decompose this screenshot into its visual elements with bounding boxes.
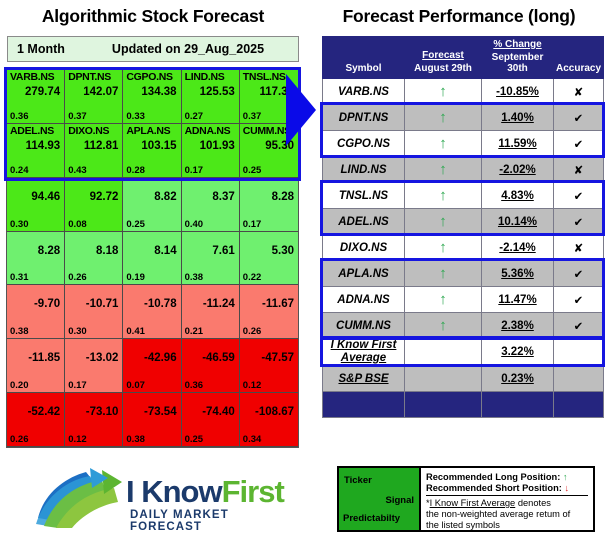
table-row: ADNA.NS↑11.47%✔ — [323, 287, 604, 313]
heatmap-cell-value: 125.53 — [200, 86, 235, 98]
footer-cell — [482, 392, 554, 418]
heatmap-cell-value: 134.38 — [141, 86, 176, 98]
heatmap-cell: -42.960.07 — [123, 339, 181, 393]
row-symbol: VARB.NS — [323, 79, 405, 105]
heatmap-cell-value: 114.93 — [26, 140, 61, 152]
heatmap-cell-predictability: 0.19 — [126, 272, 145, 283]
table-row: DIXO.NS↑-2.14%✘ — [323, 235, 604, 261]
benchmark-change: 0.23% — [482, 366, 554, 392]
heatmap-cell: CGPO.NS134.380.33 — [123, 70, 181, 124]
row-symbol: APLA.NS — [323, 261, 405, 287]
heatmap-cell-value: -10.78 — [144, 298, 177, 310]
legend-cell-sample: Ticker Signal Predictabilty — [339, 468, 421, 530]
heatmap-cell-value: 101.93 — [200, 140, 235, 152]
benchmark-signal — [405, 366, 482, 392]
algorithmic-forecast-panel: Algorithmic Stock Forecast 1 Month Updat… — [0, 0, 306, 545]
heatmap-cell-ticker: APLA.NS — [126, 125, 170, 137]
heatmap-cell-predictability: 0.41 — [126, 326, 145, 337]
heatmap-cell-value: 5.30 — [272, 245, 294, 257]
heatmap-cell-predictability: 0.33 — [126, 111, 145, 122]
heatmap-cell-ticker: ADEL.NS — [10, 125, 54, 137]
forecast-horizon-bar: 1 Month Updated on 29_Aug_2025 — [7, 36, 299, 62]
heatmap-cell-predictability: 0.25 — [185, 434, 204, 445]
heatmap-cell: 8.820.25 — [123, 178, 181, 232]
row-symbol: LIND.NS — [323, 157, 405, 183]
horizon-label: 1 Month — [8, 42, 96, 56]
row-signal-arrow-icon: ↑ — [405, 313, 482, 339]
table-row: CGPO.NS↑11.59%✔ — [323, 131, 604, 157]
legend-note-line3: the listed symbols — [426, 520, 588, 531]
heatmap-cell-predictability: 0.26 — [68, 272, 87, 283]
row-change: 2.38% — [482, 313, 554, 339]
heatmap-cell-value: -46.59 — [202, 352, 235, 364]
heatmap-cell-predictability: 0.26 — [10, 434, 29, 445]
page-title: Algorithmic Stock Forecast — [0, 6, 306, 27]
heatmap-cell: -11.850.20 — [7, 339, 65, 393]
heatmap-cell: 94.460.30 — [7, 178, 65, 232]
legend-box: Ticker Signal Predictabilty Recommended … — [337, 466, 595, 532]
table-row: DPNT.NS↑1.40%✔ — [323, 105, 604, 131]
heatmap-cell: -11.670.26 — [240, 285, 298, 339]
logo-word-iknow: I Know — [126, 474, 222, 509]
average-label: I Know FirstAverage — [323, 339, 405, 366]
heatmap-cell: -9.700.38 — [7, 285, 65, 339]
heatmap-cell-value: -11.85 — [28, 352, 60, 364]
heatmap-cell-predictability: 0.17 — [243, 219, 262, 230]
row-change: 11.47% — [482, 287, 554, 313]
heatmap-cell: DIXO.NS112.810.43 — [65, 124, 123, 178]
col-symbol: Symbol — [323, 37, 405, 79]
heatmap-cell-predictability: 0.21 — [185, 326, 204, 337]
iknowfirst-logo: I KnowFirst DAILY MARKET FORECAST — [34, 468, 284, 534]
heatmap-cell: 8.180.26 — [65, 232, 123, 286]
table-footer-band — [323, 392, 604, 418]
heatmap-cell: ADNA.NS101.930.17 — [182, 124, 240, 178]
heatmap-cell-predictability: 0.25 — [243, 165, 262, 176]
heatmap-cell-predictability: 0.43 — [68, 165, 87, 176]
row-change: -2.02% — [482, 157, 554, 183]
footer-cell — [323, 392, 405, 418]
heatmap-cell: 8.140.19 — [123, 232, 181, 286]
heatmap-cell-value: -13.02 — [86, 352, 119, 364]
heatmap-cell-value: 8.18 — [96, 245, 118, 257]
heatmap-cell: 5.300.22 — [240, 232, 298, 286]
row-change: 4.83% — [482, 183, 554, 209]
row-accuracy-icon: ✔ — [554, 287, 604, 313]
table-row: LIND.NS↑-2.02%✘ — [323, 157, 604, 183]
row-signal-arrow-icon: ↑ — [405, 209, 482, 235]
forecast-heatmap: VARB.NS279.740.36DPNT.NS142.070.37CGPO.N… — [6, 69, 299, 448]
heatmap-cell-value: -73.10 — [86, 406, 119, 418]
row-symbol: DIXO.NS — [323, 235, 405, 261]
forecast-performance-panel: Forecast Performance (long) Symbol Forec… — [306, 0, 612, 545]
heatmap-cell-value: -11.24 — [203, 298, 235, 310]
heatmap-cell-value: 112.81 — [84, 140, 119, 152]
row-symbol: CUMM.NS — [323, 313, 405, 339]
row-signal-arrow-icon: ↑ — [405, 235, 482, 261]
row-change: 5.36% — [482, 261, 554, 287]
heatmap-cell-predictability: 0.37 — [68, 111, 87, 122]
heatmap-cell-value: -73.54 — [144, 406, 177, 418]
heatmap-cell-predictability: 0.27 — [185, 111, 204, 122]
heatmap-cell-value: -74.40 — [202, 406, 235, 418]
row-signal-arrow-icon: ↑ — [405, 183, 482, 209]
heatmap-cell-value: 7.61 — [212, 245, 234, 257]
heatmap-cell-predictability: 0.37 — [243, 111, 262, 122]
col-change: % Change September 30th — [482, 37, 554, 79]
heatmap-cell-predictability: 0.12 — [243, 380, 262, 391]
row-accuracy-icon: ✔ — [554, 131, 604, 157]
heatmap-cell: ADEL.NS114.930.24 — [7, 124, 65, 178]
average-signal — [405, 339, 482, 366]
heatmap-cell-predictability: 0.36 — [185, 380, 204, 391]
row-change: -2.14% — [482, 235, 554, 261]
footer-cell — [405, 392, 482, 418]
heatmap-cell: VARB.NS279.740.36 — [7, 70, 65, 124]
row-symbol: ADEL.NS — [323, 209, 405, 235]
heatmap-cell-value: 8.37 — [212, 191, 234, 203]
heatmap-cell-ticker: VARB.NS — [10, 71, 54, 83]
heatmap-cell: 92.720.08 — [65, 178, 123, 232]
row-signal-arrow-icon: ↑ — [405, 105, 482, 131]
legend-down-arrow-icon: ↓ — [564, 483, 569, 493]
heatmap-cell-predictability: 0.24 — [10, 165, 29, 176]
heatmap-cell-value: 8.28 — [38, 245, 60, 257]
heatmap-cell-value: -52.42 — [28, 406, 61, 418]
heatmap-cell: 8.370.40 — [182, 178, 240, 232]
average-change: 3.22% — [482, 339, 554, 366]
row-change: 1.40% — [482, 105, 554, 131]
heatmap-cell: -11.240.21 — [182, 285, 240, 339]
heatmap-cell-predictability: 0.17 — [185, 165, 204, 176]
row-signal-arrow-icon: ↑ — [405, 157, 482, 183]
heatmap-cell: -10.780.41 — [123, 285, 181, 339]
table-row: ADEL.NS↑10.14%✔ — [323, 209, 604, 235]
heatmap-cell-ticker: TNSL.NS — [243, 71, 286, 83]
heatmap-cell-predictability: 0.38 — [126, 434, 145, 445]
benchmark-label: S&P BSE — [323, 366, 405, 392]
row-accuracy-icon: ✔ — [554, 261, 604, 287]
footer-cell — [554, 392, 604, 418]
table-header-row: Symbol Forecast August 29th % Change Sep… — [323, 37, 604, 79]
heatmap-cell: -52.420.26 — [7, 393, 65, 447]
row-change: -10.85% — [482, 79, 554, 105]
heatmap-cell: -10.710.30 — [65, 285, 123, 339]
heatmap-cell-value: 142.07 — [83, 86, 118, 98]
heatmap-cell-value: -11.67 — [262, 298, 294, 310]
heatmap-cell-ticker: CUMM.NS — [243, 125, 291, 137]
row-accuracy-icon: ✘ — [554, 235, 604, 261]
heatmap-cell: LIND.NS125.530.27 — [182, 70, 240, 124]
heatmap-cell-ticker: DIXO.NS — [68, 125, 109, 137]
row-accuracy-icon: ✔ — [554, 183, 604, 209]
heatmap-cell: -46.590.36 — [182, 339, 240, 393]
col-accuracy: Accuracy — [554, 37, 604, 79]
heatmap-cell-value: 279.74 — [25, 86, 60, 98]
table-row-average: I Know FirstAverage3.22% — [323, 339, 604, 366]
row-accuracy-icon: ✔ — [554, 313, 604, 339]
legend-note-line1: *I Know First Average denotes — [426, 498, 588, 509]
heatmap-cell-value: -47.57 — [261, 352, 294, 364]
row-signal-arrow-icon: ↑ — [405, 79, 482, 105]
heatmap-cell-predictability: 0.30 — [10, 219, 29, 230]
row-change: 11.59% — [482, 131, 554, 157]
heatmap-cell-predictability: 0.26 — [243, 326, 262, 337]
row-symbol: ADNA.NS — [323, 287, 405, 313]
heatmap-cell: -47.570.12 — [240, 339, 298, 393]
heatmap-cell-value: 8.82 — [154, 191, 176, 203]
row-signal-arrow-icon: ↑ — [405, 131, 482, 157]
col-forecast: Forecast August 29th — [405, 37, 482, 79]
table-row: CUMM.NS↑2.38%✔ — [323, 313, 604, 339]
logo-word-first: First — [222, 474, 284, 509]
logo-wordmark: I KnowFirst — [126, 474, 284, 510]
heatmap-cell-value: -42.96 — [144, 352, 177, 364]
row-accuracy-icon: ✘ — [554, 79, 604, 105]
heatmap-cell-predictability: 0.38 — [185, 272, 204, 283]
table-row: TNSL.NS↑4.83%✔ — [323, 183, 604, 209]
heatmap-cell: 7.610.38 — [182, 232, 240, 286]
heatmap-cell-predictability: 0.25 — [126, 219, 145, 230]
heatmap-cell-ticker: CGPO.NS — [126, 71, 172, 83]
legend-divider — [426, 495, 588, 496]
heatmap-cell-value: -10.71 — [86, 298, 119, 310]
heatmap-cell-predictability: 0.08 — [68, 219, 87, 230]
heatmap-cell-value: 8.14 — [154, 245, 176, 257]
legend-long-line: Recommended Long Position: ↑ — [426, 472, 588, 483]
heatmap-cell-value: -9.70 — [34, 298, 60, 310]
row-accuracy-icon: ✘ — [554, 157, 604, 183]
row-accuracy-icon: ✔ — [554, 105, 604, 131]
heatmap-cell: APLA.NS103.150.28 — [123, 124, 181, 178]
performance-table: Symbol Forecast August 29th % Change Sep… — [322, 36, 604, 418]
heatmap-cell: -73.540.38 — [123, 393, 181, 447]
heatmap-cell: 8.280.31 — [7, 232, 65, 286]
legend-ticker-label: Ticker — [344, 475, 372, 486]
heatmap-cell: -13.020.17 — [65, 339, 123, 393]
heatmap-cell-predictability: 0.28 — [126, 165, 145, 176]
legend-text-area: Recommended Long Position: ↑ Recommended… — [421, 468, 593, 530]
heatmap-cell-value: 92.72 — [90, 191, 119, 203]
table-row: VARB.NS↑-10.85%✘ — [323, 79, 604, 105]
heatmap-cell-predictability: 0.38 — [10, 326, 29, 337]
table-row: APLA.NS↑5.36%✔ — [323, 261, 604, 287]
row-symbol: CGPO.NS — [323, 131, 405, 157]
heatmap-cell-predictability: 0.36 — [10, 111, 29, 122]
legend-signal-label: Signal — [385, 495, 414, 506]
heatmap-cell-value: 94.46 — [31, 191, 60, 203]
heatmap-cell-predictability: 0.12 — [68, 434, 87, 445]
heatmap-cell-predictability: 0.20 — [10, 380, 29, 391]
legend-up-arrow-icon: ↑ — [563, 472, 568, 482]
row-change: 10.14% — [482, 209, 554, 235]
average-accuracy — [554, 339, 604, 366]
heatmap-cell: -108.670.34 — [240, 393, 298, 447]
heatmap-cell-value: 8.28 — [272, 191, 294, 203]
heatmap-cell-ticker: ADNA.NS — [185, 125, 231, 137]
heatmap-cell-predictability: 0.22 — [243, 272, 262, 283]
row-signal-arrow-icon: ↑ — [405, 287, 482, 313]
legend-predictability-label: Predictabilty — [343, 513, 400, 524]
performance-title: Forecast Performance (long) — [306, 6, 612, 27]
heatmap-cell-predictability: 0.07 — [126, 380, 145, 391]
heatmap-cell-ticker: LIND.NS — [185, 71, 225, 83]
updated-label: Updated on 29_Aug_2025 — [96, 42, 298, 56]
heatmap-cell-predictability: 0.40 — [185, 219, 204, 230]
heatmap-cell: -74.400.25 — [182, 393, 240, 447]
heatmap-cell-predictability: 0.34 — [243, 434, 262, 445]
heatmap-cell-predictability: 0.30 — [68, 326, 87, 337]
heatmap-cell-value: -108.67 — [255, 406, 294, 418]
logo-tagline: DAILY MARKET FORECAST — [130, 509, 284, 533]
heatmap-cell: DPNT.NS142.070.37 — [65, 70, 123, 124]
heatmap-cell-predictability: 0.17 — [68, 380, 87, 391]
heatmap-cell: -73.100.12 — [65, 393, 123, 447]
row-signal-arrow-icon: ↑ — [405, 261, 482, 287]
row-symbol: DPNT.NS — [323, 105, 405, 131]
row-accuracy-icon: ✔ — [554, 209, 604, 235]
row-symbol: TNSL.NS — [323, 183, 405, 209]
legend-note-line2: the non-weighted average retum of — [426, 509, 588, 520]
logo-mark-icon — [34, 468, 124, 530]
heatmap-cell: 8.280.17 — [240, 178, 298, 232]
heatmap-cell-predictability: 0.31 — [10, 272, 29, 283]
benchmark-accuracy — [554, 366, 604, 392]
legend-short-line: Recommended Short Position: ↓ — [426, 483, 588, 494]
heatmap-cell-value: 103.15 — [141, 140, 176, 152]
table-row-benchmark: S&P BSE0.23% — [323, 366, 604, 392]
heatmap-cell-ticker: DPNT.NS — [68, 71, 111, 83]
